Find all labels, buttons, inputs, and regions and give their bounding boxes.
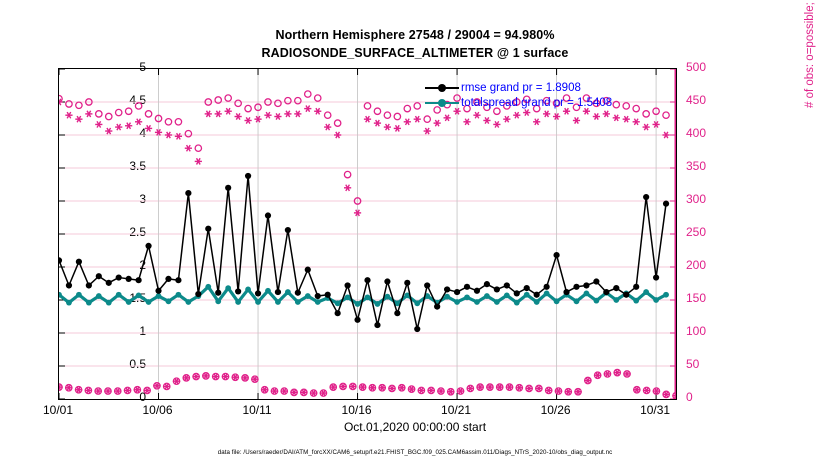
legend-item-totalspread[interactable]: totalspread grand pr = 1.5408 bbox=[425, 95, 612, 110]
y-axis-right-label: # of obs: o=possible; *=evaluated bbox=[804, 0, 816, 108]
legend-label-totalspread: totalspread grand pr = 1.5408 bbox=[461, 97, 612, 109]
x-tick-10-06: 10/06 bbox=[128, 404, 188, 416]
x-axis-label: Oct.01,2020 00:00:00 start bbox=[0, 420, 830, 434]
legend-item-rmse[interactable]: rmse grand pr = 1.8908 bbox=[425, 80, 612, 95]
chart-legend: rmse grand pr = 1.8908 totalspread grand… bbox=[425, 80, 612, 110]
x-tick-10-16: 10/16 bbox=[327, 404, 387, 416]
y-right-tick-450: 450 bbox=[686, 95, 732, 105]
data-file-footer: data file: /Users/raeder/DAI/ATM_forcXX/… bbox=[0, 449, 830, 456]
y-right-tick-500: 500 bbox=[686, 62, 732, 72]
x-tick-10-11: 10/11 bbox=[227, 404, 287, 416]
legend-marker-totalspread bbox=[425, 97, 459, 109]
y-right-tick-300: 300 bbox=[686, 194, 732, 204]
legend-label-rmse: rmse grand pr = 1.8908 bbox=[461, 82, 581, 94]
x-tick-10-21: 10/21 bbox=[426, 404, 486, 416]
y-right-tick-0: 0 bbox=[686, 392, 732, 402]
y-right-tick-350: 350 bbox=[686, 161, 732, 171]
x-tick-10-01: 10/01 bbox=[28, 404, 88, 416]
y-right-tick-250: 250 bbox=[686, 227, 732, 237]
y-right-tick-150: 150 bbox=[686, 293, 732, 303]
y-right-tick-100: 100 bbox=[686, 326, 732, 336]
legend-marker-rmse bbox=[425, 82, 459, 94]
chart-canvas bbox=[59, 69, 676, 399]
x-tick-10-31: 10/31 bbox=[625, 404, 685, 416]
chart-title-line1: Northern Hemisphere 27548 / 29004 = 94.9… bbox=[0, 26, 830, 44]
y-right-tick-50: 50 bbox=[686, 359, 732, 369]
y-right-tick-400: 400 bbox=[686, 128, 732, 138]
x-tick-10-26: 10/26 bbox=[526, 404, 586, 416]
plot-area[interactable] bbox=[58, 68, 677, 400]
y-right-tick-200: 200 bbox=[686, 260, 732, 270]
chart-title: Northern Hemisphere 27548 / 29004 = 94.9… bbox=[0, 26, 830, 62]
